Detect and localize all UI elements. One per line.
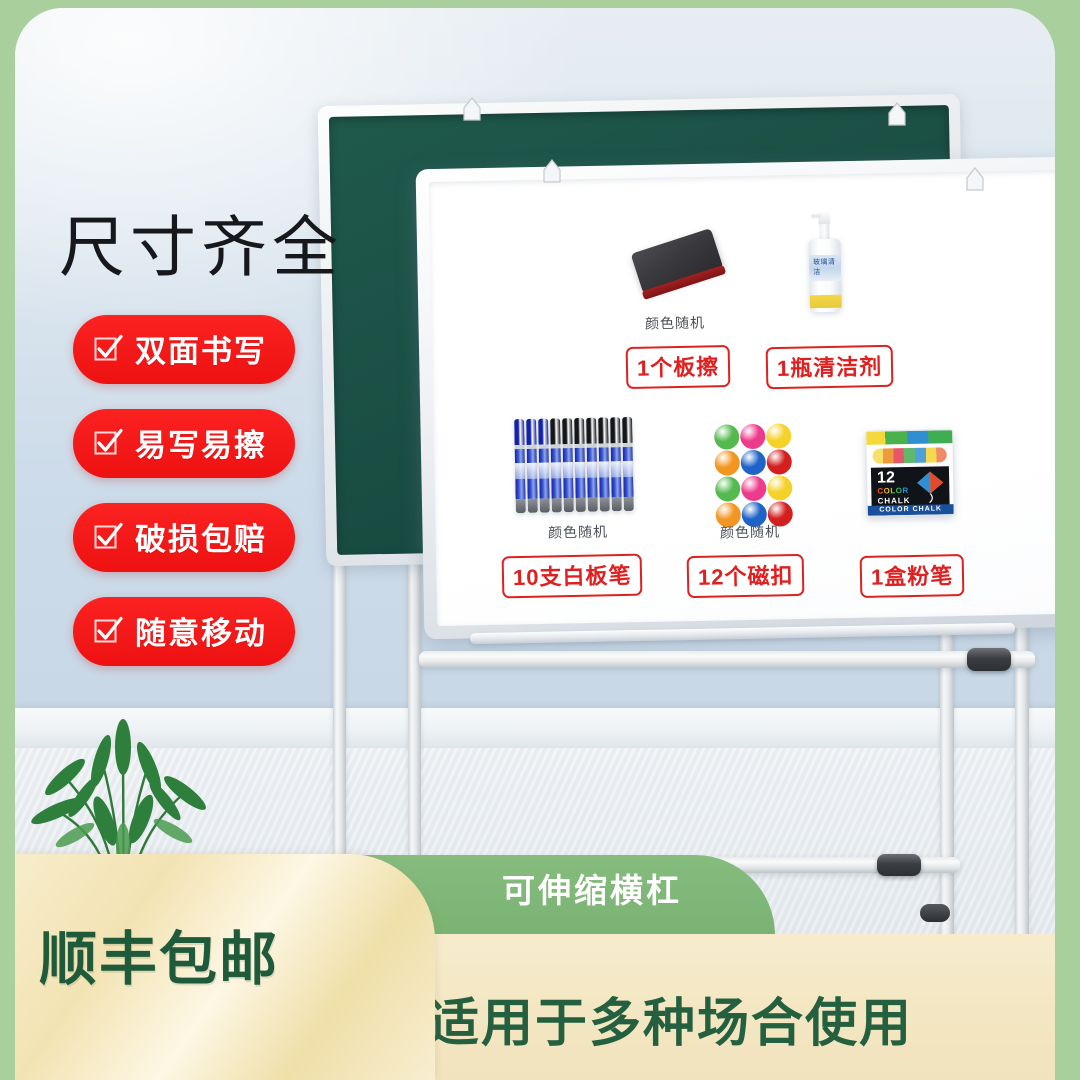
marker-barrel xyxy=(551,448,562,498)
magnet-button xyxy=(741,450,766,475)
feature-badge-label: 双面书写 xyxy=(135,326,267,371)
marker-barrel xyxy=(623,447,634,497)
whiteboard-marker-set xyxy=(514,417,638,515)
whiteboard-marker xyxy=(538,419,550,513)
chalk-tag: 1盒粉笔 xyxy=(860,554,965,598)
marker-barrel xyxy=(599,447,610,497)
feature-badge-label: 随意移动 xyxy=(135,608,267,653)
eraser-caption: 颜色随机 xyxy=(630,312,720,334)
marker-end-cap xyxy=(588,498,598,512)
caster-wheel xyxy=(920,904,950,922)
marker-cap xyxy=(598,417,608,443)
kite-illustration-icon xyxy=(914,469,947,504)
marker-barrel xyxy=(515,449,526,499)
marker-end-cap xyxy=(612,497,622,511)
product-banner: 颜色随机 1个板擦 玻璃清洁 1瓶清洁剂 颜色随机 10支白板笔 颜色随机 12… xyxy=(0,0,1080,1080)
feature-badge-list: 双面书写易写易擦破损包赔随意移动 xyxy=(73,315,295,666)
crossbar-sleeve-lower xyxy=(877,854,921,876)
magnet-button-set xyxy=(714,423,793,527)
marker-barrel xyxy=(611,447,622,497)
spray-neck xyxy=(819,224,829,240)
chalk-color-word: COLOR xyxy=(877,486,909,496)
left-green-border xyxy=(0,0,15,1080)
magnet-button xyxy=(714,424,739,449)
chalk-box-top-stripe xyxy=(866,430,952,445)
whiteboard-marker xyxy=(622,417,634,511)
magnet-button xyxy=(715,476,740,501)
whiteboard-marker xyxy=(586,418,598,512)
right-green-border xyxy=(1055,0,1080,1080)
telescoping-crossbar-upper xyxy=(419,651,1035,668)
marker-barrel xyxy=(587,448,598,498)
chalk-count-label: 12 xyxy=(877,470,895,486)
markers-caption: 颜色随机 xyxy=(533,521,623,543)
spray-body: 玻璃清洁 xyxy=(809,239,842,313)
marker-barrel xyxy=(527,449,538,499)
marker-end-cap xyxy=(564,498,574,512)
marker-cap xyxy=(514,419,524,445)
cream-footer-label: 适用于多种场合使用 xyxy=(427,981,913,1056)
green-band-label: 可伸缩横杠 xyxy=(502,864,682,912)
checkbox-check-icon xyxy=(93,428,123,458)
shipping-badge-label: 顺丰包邮 xyxy=(39,912,279,996)
magnet-button xyxy=(767,449,792,474)
marker-cap xyxy=(610,417,620,443)
crossbar-sleeve-upper xyxy=(967,648,1011,671)
marker-end-cap xyxy=(552,498,562,512)
hanging-clip-icon xyxy=(965,166,985,192)
color-chalk-box: 12 COLOR CHALK COLOR CHALK xyxy=(865,429,955,517)
marker-barrel xyxy=(563,448,574,498)
marker-barrel xyxy=(539,449,550,499)
checkbox-check-icon xyxy=(93,616,123,646)
eraser-tag: 1个板擦 xyxy=(626,345,731,389)
magnet-button xyxy=(740,424,765,449)
magnets-tag: 12个磁扣 xyxy=(687,554,805,598)
spray-bottom-band xyxy=(810,295,842,309)
hanging-clip-icon xyxy=(542,158,562,184)
photo-panel: 颜色随机 1个板擦 玻璃清洁 1瓶清洁剂 颜色随机 10支白板笔 颜色随机 12… xyxy=(15,8,1055,1080)
page-title: 尺寸齐全 xyxy=(59,194,343,290)
feature-badge[interactable]: 易写易擦 xyxy=(73,409,295,478)
magnet-button xyxy=(741,476,766,501)
marker-cap xyxy=(574,418,584,444)
chalk-sticks-graphic xyxy=(873,447,947,463)
feature-badge-label: 破损包赔 xyxy=(135,514,267,559)
whiteboard-marker xyxy=(562,418,574,512)
marker-barrel xyxy=(575,448,586,498)
marker-end-cap xyxy=(600,497,610,511)
marker-cap xyxy=(562,418,572,444)
marker-cap xyxy=(622,417,632,443)
hanging-clip-icon xyxy=(462,96,482,122)
spray-label-text: 玻璃清洁 xyxy=(813,257,841,278)
feature-badge[interactable]: 双面书写 xyxy=(73,315,295,384)
feature-badge[interactable]: 随意移动 xyxy=(73,597,295,666)
cleaner-spray-bottle: 玻璃清洁 xyxy=(807,212,843,313)
marker-cap xyxy=(526,419,536,445)
marker-cap xyxy=(538,419,548,445)
magnets-caption: 颜色随机 xyxy=(705,521,795,543)
marker-end-cap xyxy=(624,497,634,511)
feature-badge-label: 易写易擦 xyxy=(135,420,267,465)
marker-end-cap xyxy=(528,499,538,513)
markers-tag: 10支白板笔 xyxy=(502,554,643,599)
whiteboard-marker xyxy=(514,419,526,513)
whiteboard-marker xyxy=(526,419,538,513)
magnet-button xyxy=(715,450,740,475)
whiteboard-marker xyxy=(574,418,586,512)
marker-end-cap xyxy=(540,499,550,513)
cleaner-tag: 1瓶清洁剂 xyxy=(766,345,894,389)
spray-label: 玻璃清洁 xyxy=(809,255,841,282)
whiteboard-marker xyxy=(610,417,622,511)
marker-cap xyxy=(550,418,560,444)
hanging-clip-icon xyxy=(887,101,907,127)
chalk-box-black-panel: 12 COLOR CHALK xyxy=(871,466,950,507)
marker-cap xyxy=(586,418,596,444)
feature-badge[interactable]: 破损包赔 xyxy=(73,503,295,572)
checkbox-check-icon xyxy=(93,522,123,552)
chalk-box-bottom-band: COLOR CHALK xyxy=(868,504,954,516)
marker-end-cap xyxy=(516,499,526,513)
whiteboard-marker xyxy=(550,418,562,512)
checkbox-check-icon xyxy=(93,334,123,364)
magnet-button xyxy=(766,423,791,448)
marker-end-cap xyxy=(576,498,586,512)
magnet-button xyxy=(767,475,792,500)
whiteboard-marker xyxy=(598,417,610,511)
